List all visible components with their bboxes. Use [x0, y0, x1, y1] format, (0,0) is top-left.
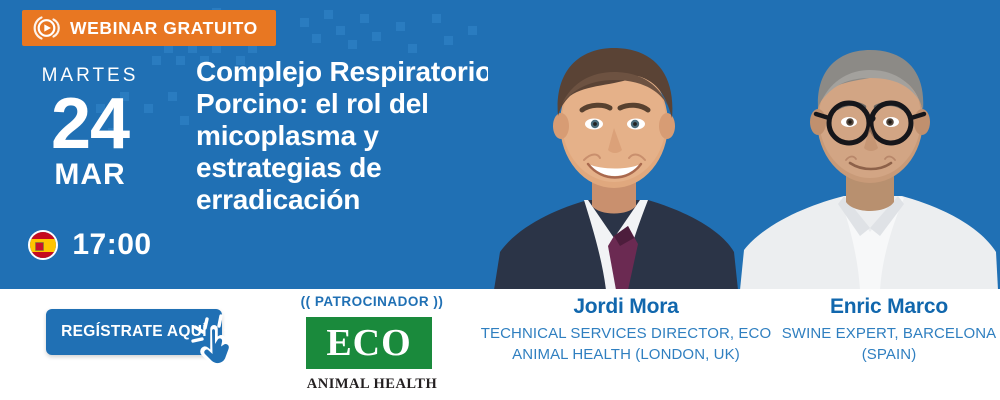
footer-bar: REGÍSTRATE AQUÍ (( PATROCINADO	[0, 289, 1000, 400]
hand-click-cursor-icon	[189, 313, 245, 367]
free-webinar-badge: WEBINAR GRATUITO	[22, 10, 276, 46]
speaker-name: Jordi Mora	[478, 295, 774, 319]
date-block: MARTES 24 MAR	[0, 66, 180, 190]
webinar-banner: WEBINAR GRATUITO MARTES 24 MAR 17:00 Com…	[0, 0, 1000, 400]
eco-logo-tagline: ANIMAL HEALTH	[306, 376, 438, 393]
day-number: 24	[0, 89, 180, 160]
speaker-role: TECHNICAL SERVICES DIRECTOR, ECO ANIMAL …	[478, 323, 774, 366]
hero-panel: WEBINAR GRATUITO MARTES 24 MAR 17:00 Com…	[0, 0, 1000, 289]
eco-logo-mark: ECO	[306, 317, 438, 373]
speaker-role: SWINE EXPERT, BARCELONA (SPAIN)	[778, 323, 1000, 366]
time-row: 17:00	[0, 228, 180, 262]
page-title: Complejo Respiratorio Porcino: el rol de…	[196, 56, 496, 216]
play-broadcast-icon	[32, 13, 62, 43]
eco-animal-health-logo[interactable]: ECO ANIMAL HEALTH	[306, 317, 438, 393]
sponsor-label: (( PATROCINADOR ))	[282, 294, 462, 309]
speaker-info-jordi-mora: Jordi Mora TECHNICAL SERVICES DIRECTOR, …	[478, 295, 774, 366]
register-button-label: REGÍSTRATE AQUÍ	[61, 323, 207, 341]
month-label: MAR	[0, 160, 180, 190]
spain-flag-icon	[28, 230, 58, 260]
speaker-name: Enric Marco	[778, 295, 1000, 319]
speaker-info-enric-marco: Enric Marco SWINE EXPERT, BARCELONA (SPA…	[778, 295, 1000, 366]
eco-logo-word: ECO	[306, 317, 432, 369]
day-of-week: MARTES	[0, 66, 180, 85]
sponsor-block: (( PATROCINADOR )) ECO ANIMAL HEALTH	[282, 294, 462, 393]
speaker-photo-jordi-mora	[488, 0, 740, 289]
free-webinar-label: WEBINAR GRATUITO	[70, 18, 258, 39]
time-label: 17:00	[72, 228, 151, 262]
speaker-photo-enric-marco	[740, 0, 1000, 289]
register-cta-group[interactable]: REGÍSTRATE AQUÍ	[46, 309, 256, 361]
